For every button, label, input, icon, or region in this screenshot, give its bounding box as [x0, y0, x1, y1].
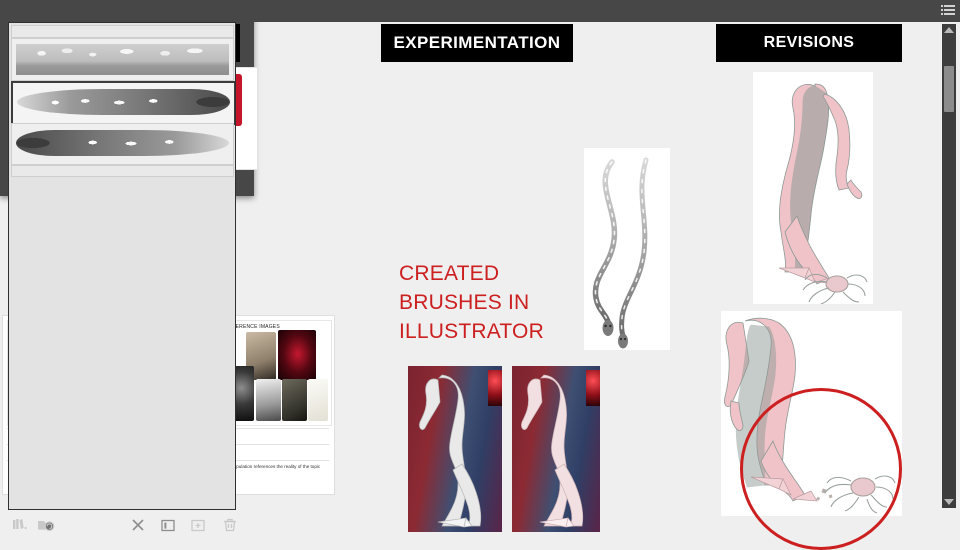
brushes-list-footer-strip: [11, 165, 234, 177]
revision-figure-render: [753, 72, 873, 304]
delete-brush-icon[interactable]: [220, 516, 240, 534]
reference-images-panel: REFERENCE IMAGES: [221, 320, 332, 426]
section-header-revisions-label: REVISIONS: [764, 34, 855, 52]
painting-greyscale-figure: [408, 366, 502, 532]
serpent-svg: [584, 148, 670, 350]
reference-thumb-sketch-sheet: [308, 379, 328, 421]
figure-svg: [512, 366, 600, 532]
brush-libraries-menu-icon[interactable]: [10, 516, 30, 534]
brush-preview-scale-texture: [16, 44, 229, 75]
brush-options-icon[interactable]: [158, 516, 178, 534]
brush-preview-serpent-body: [17, 89, 230, 115]
reference-thumb-figure-study: [282, 379, 307, 421]
brush-preview-serpent-head: [16, 130, 229, 156]
callout-line-2: BRUSHES IN: [399, 289, 589, 318]
painting-pink-figure: [512, 366, 600, 532]
brushes-list-header-strip: [11, 25, 234, 38]
callout-line-3: ILLUSTRATOR: [399, 318, 589, 347]
brush-item-serpent-head[interactable]: [11, 123, 234, 165]
brush-item-scale-texture[interactable]: [11, 38, 234, 81]
scroll-down-arrow-icon[interactable]: [944, 499, 954, 505]
reference-thumb-medusa-engraving: [256, 379, 281, 421]
section-header-experimentation-label: EXPERIMENTATION: [394, 33, 561, 53]
serpent-brush-strokes: [584, 148, 670, 350]
section-header-revisions: REVISIONS: [716, 24, 902, 62]
revision-figure-svg: [753, 72, 873, 304]
red-annotation-circle: [740, 388, 902, 550]
section-header-experimentation: EXPERIMENTATION: [381, 24, 573, 62]
callout-line-1: CREATED: [399, 260, 589, 289]
scrollbar-thumb[interactable]: [944, 66, 954, 112]
libraries-panel-icon[interactable]: [36, 516, 56, 534]
figure-svg: [408, 366, 502, 532]
reference-thumb-red-corridor: [278, 330, 316, 380]
panel-title-bar[interactable]: [0, 0, 960, 22]
brushes-list[interactable]: [8, 22, 236, 510]
illustrator-brushes-panel: [0, 0, 254, 196]
brush-item-serpent-body[interactable]: [11, 81, 236, 125]
remove-brush-stroke-icon[interactable]: [128, 516, 148, 534]
presentation-slide: PLANNING EXPERIMENTATION REVISIONS ·····…: [0, 0, 960, 540]
scroll-up-arrow-icon[interactable]: [944, 27, 954, 33]
brushes-scrollbar[interactable]: [942, 24, 956, 508]
new-brush-icon[interactable]: [188, 516, 208, 534]
panel-menu-icon[interactable]: [941, 5, 955, 17]
created-brushes-callout: CREATED BRUSHES IN ILLUSTRATOR: [399, 260, 589, 347]
